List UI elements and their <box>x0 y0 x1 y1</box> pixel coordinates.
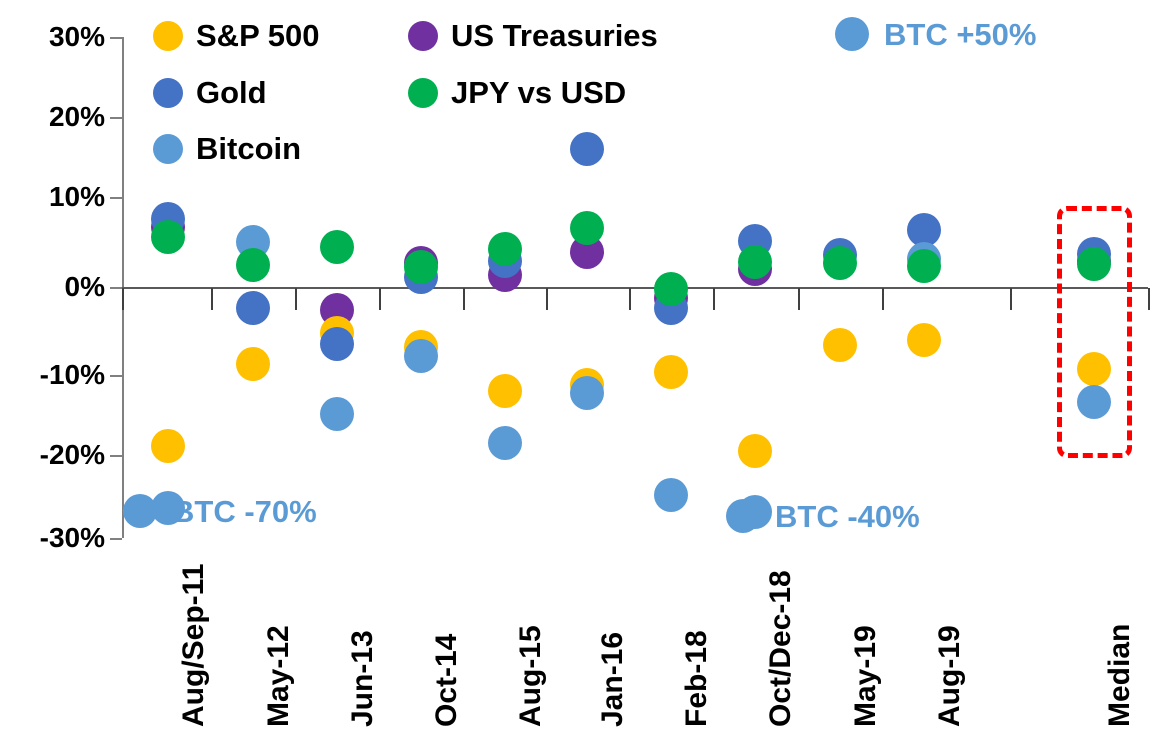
y-tick-label: -10% <box>40 361 105 389</box>
y-tick-label: 0% <box>65 273 105 301</box>
x-tick-mark <box>713 288 715 310</box>
x-tick-mark <box>379 288 381 310</box>
annotation-btc-minus-70: BTC -70% <box>123 494 317 528</box>
x-tick-label: Oct-14 <box>432 634 462 727</box>
y-tick-label: 20% <box>49 103 105 131</box>
y-tick-mark <box>110 375 122 377</box>
annotation-dot-icon <box>726 499 760 533</box>
x-tick-mark <box>798 288 800 310</box>
legend-label: JPY vs USD <box>451 77 626 108</box>
legend-swatch-icon <box>153 134 183 164</box>
y-tick-mark <box>110 117 122 119</box>
data-point <box>236 291 270 325</box>
x-tick-label: May-12 <box>264 625 294 727</box>
data-point <box>151 429 185 463</box>
y-tick-mark <box>110 287 122 289</box>
x-tick-label: May-19 <box>851 625 881 727</box>
x-tick-mark <box>122 288 124 310</box>
annotation-label: BTC +50% <box>884 19 1036 50</box>
y-tick-mark <box>110 455 122 457</box>
data-point <box>738 245 772 279</box>
legend-swatch-icon <box>408 78 438 108</box>
data-point <box>907 249 941 283</box>
median-highlight-box <box>1057 206 1132 458</box>
data-point <box>570 376 604 410</box>
legend-label: Bitcoin <box>196 133 301 164</box>
zero-axis-line <box>122 287 1148 289</box>
legend-item[interactable]: Bitcoin <box>153 133 301 164</box>
x-tick-mark <box>882 288 884 310</box>
x-tick-label: Jun-13 <box>348 630 378 727</box>
x-tick-label: Feb-18 <box>682 630 712 727</box>
x-tick-mark <box>295 288 297 310</box>
y-tick-label: -20% <box>40 441 105 469</box>
data-point <box>654 478 688 512</box>
data-point <box>907 323 941 357</box>
y-tick-label: -30% <box>40 524 105 552</box>
annotation-dot-icon <box>123 494 157 528</box>
data-point <box>738 434 772 468</box>
x-tick-mark <box>463 288 465 310</box>
legend-item[interactable]: JPY vs USD <box>408 77 626 108</box>
data-point <box>320 230 354 264</box>
annotation-btc-minus-40: BTC -40% <box>726 499 920 533</box>
data-point <box>823 328 857 362</box>
x-tick-label: Aug/Sep-11 <box>179 564 209 727</box>
x-tick-mark <box>1148 288 1150 310</box>
data-point <box>151 220 185 254</box>
legend-label: Gold <box>196 77 267 108</box>
x-tick-label: Median <box>1105 624 1135 727</box>
legend-item[interactable]: S&P 500 <box>153 20 320 51</box>
y-tick-label: 30% <box>49 23 105 51</box>
data-point <box>404 250 438 284</box>
x-tick-mark <box>211 288 213 310</box>
y-tick-label: 10% <box>49 183 105 211</box>
data-point <box>654 355 688 389</box>
data-point <box>488 426 522 460</box>
legend-swatch-icon <box>153 78 183 108</box>
x-tick-mark <box>1010 288 1012 310</box>
x-tick-label: Aug-19 <box>935 625 965 727</box>
data-point <box>320 327 354 361</box>
x-tick-label: Jan-16 <box>598 632 628 727</box>
annotation-label: BTC -70% <box>172 496 317 527</box>
x-tick-label: Oct/Dec-18 <box>766 570 796 727</box>
y-tick-mark <box>110 538 122 540</box>
data-point <box>570 211 604 245</box>
legend-label: US Treasuries <box>451 20 658 51</box>
x-tick-label: Aug-15 <box>516 625 546 727</box>
x-tick-mark <box>546 288 548 310</box>
data-point <box>654 272 688 306</box>
legend-item[interactable]: Gold <box>153 77 267 108</box>
data-point <box>488 374 522 408</box>
data-point <box>236 347 270 381</box>
y-tick-mark <box>110 37 122 39</box>
data-point <box>236 248 270 282</box>
data-point <box>570 132 604 166</box>
data-point <box>404 339 438 373</box>
y-tick-mark <box>110 197 122 199</box>
data-point <box>823 246 857 280</box>
scatter-chart: 30%20%10%0%-10%-20%-30% Aug/Sep-11May-12… <box>0 0 1151 739</box>
legend-swatch-icon <box>408 21 438 51</box>
annotation-dot-icon <box>835 17 869 51</box>
annotation-label: BTC -40% <box>775 501 920 532</box>
legend-label: S&P 500 <box>196 20 320 51</box>
data-point <box>320 397 354 431</box>
x-tick-mark <box>629 288 631 310</box>
annotation-btc-plus-50: BTC +50% <box>835 17 1036 51</box>
legend-item[interactable]: US Treasuries <box>408 20 658 51</box>
legend-swatch-icon <box>153 21 183 51</box>
